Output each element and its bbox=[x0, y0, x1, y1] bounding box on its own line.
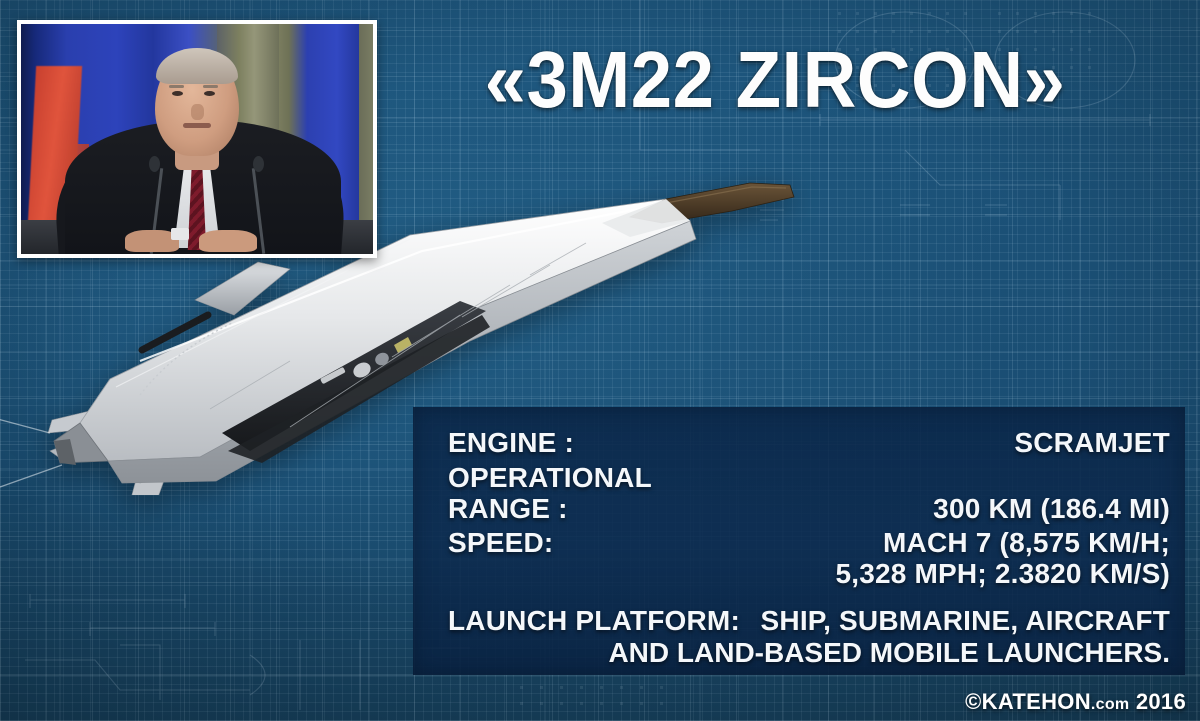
spec-label-operational-range: OPERATIONAL RANGE : bbox=[448, 462, 652, 524]
spec-row-speed: SPEED: MACH 7 (8,575 KM/H; 5,328 MPH; 2.… bbox=[448, 527, 1170, 589]
spec-value-launch-platform: SHIP, SUBMARINE, AIRCRAFT bbox=[761, 605, 1170, 636]
spec-value-speed: MACH 7 (8,575 KM/H; 5,328 MPH; 2.3820 KM… bbox=[835, 527, 1170, 589]
watermark-brand: KATEHON bbox=[982, 689, 1091, 714]
mouth bbox=[183, 123, 211, 128]
watermark-copyright-symbol: © bbox=[965, 689, 982, 714]
spec-value-operational-range: 300 KM (186.4 MI) bbox=[933, 493, 1170, 524]
spec-row-engine: ENGINE : SCRAMJET bbox=[448, 427, 1170, 458]
spec-row-operational-range: OPERATIONAL RANGE : 300 KM (186.4 MI) bbox=[448, 462, 1170, 524]
specifications-panel: ENGINE : SCRAMJET OPERATIONAL RANGE : 30… bbox=[413, 407, 1185, 675]
watermark-year: 2016 bbox=[1129, 689, 1186, 714]
spec-label-speed: SPEED: bbox=[448, 527, 553, 558]
watermark-domain: .com bbox=[1091, 696, 1130, 713]
putin-photo bbox=[21, 24, 373, 254]
microphone-head-right bbox=[253, 156, 264, 172]
eyebrow-right bbox=[203, 85, 218, 88]
spec-label-launch-platform: LAUNCH PLATFORM: bbox=[448, 605, 740, 636]
specifications-list: ENGINE : SCRAMJET OPERATIONAL RANGE : 30… bbox=[448, 425, 1170, 665]
infographic-canvas: «3M22 ZIRCON» bbox=[0, 0, 1200, 721]
spec-value-launch-platform-line2: AND LAND-BASED MOBILE LAUNCHERS. bbox=[448, 637, 1170, 668]
spec-label-engine: ENGINE : bbox=[448, 427, 574, 458]
shirt-cuff bbox=[171, 228, 189, 240]
hand-right bbox=[199, 230, 257, 252]
spec-row-launch-platform: LAUNCH PLATFORM: SHIP, SUBMARINE, AIRCRA… bbox=[448, 605, 1170, 668]
spec-value-engine: SCRAMJET bbox=[1014, 427, 1170, 458]
eyebrow-left bbox=[169, 85, 184, 88]
eye-right bbox=[204, 91, 215, 96]
page-title: «3M22 ZIRCON» bbox=[417, 28, 1133, 132]
putin-photo-frame bbox=[17, 20, 377, 258]
microphone-head-left bbox=[149, 156, 160, 172]
eye-left bbox=[172, 91, 183, 96]
nose bbox=[191, 104, 204, 120]
watermark: ©KATEHON.com 2016 bbox=[965, 689, 1186, 715]
